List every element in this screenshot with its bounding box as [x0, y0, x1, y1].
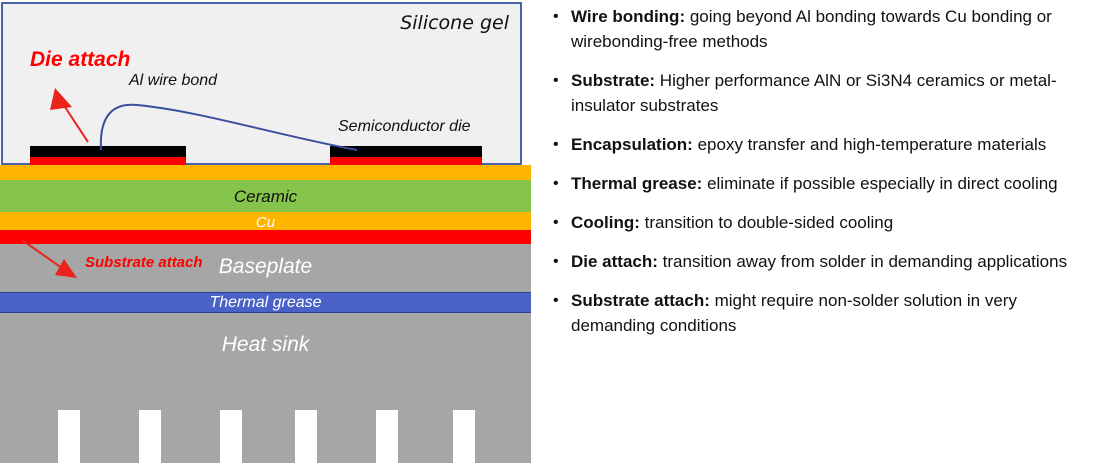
list-item: • Die attach: transition away from solde… [549, 249, 1094, 274]
die-attach-annotation: Die attach [30, 47, 140, 72]
list-item-text: Die attach: transition away from solder … [571, 249, 1094, 274]
bullet-marker-icon: • [549, 68, 571, 118]
bullet-list: • Wire bonding: going beyond Al bonding … [549, 4, 1094, 459]
thermal-grease-label: Thermal grease [0, 294, 531, 312]
list-item: • Cooling: transition to double-sided co… [549, 210, 1094, 235]
die-attach-solder [330, 157, 482, 165]
list-item-body: transition away from solder in demanding… [658, 252, 1067, 271]
heat-sink-fin-slot [376, 410, 398, 463]
die-body [330, 146, 482, 157]
die-body [30, 146, 186, 157]
copper-layer-label: Cu [0, 214, 531, 231]
heat-sink-label: Heat sink [0, 333, 531, 357]
list-item: • Thermal grease: eliminate if possible … [549, 171, 1094, 196]
semiconductor-die-label: Semiconductor die [338, 118, 471, 136]
al-wire-bond-label: Al wire bond [129, 72, 217, 90]
list-item-body: transition to double-sided cooling [640, 213, 893, 232]
silicone-gel-label: Silicone gel [400, 12, 509, 34]
list-item-term: Substrate: [571, 71, 655, 90]
baseplate-layer-label: Baseplate [0, 255, 531, 279]
list-item-body: epoxy transfer and high-temperature mate… [693, 135, 1046, 154]
list-item-term: Substrate attach: [571, 291, 710, 310]
bullet-marker-icon: • [549, 171, 571, 196]
list-item-term: Encapsulation: [571, 135, 693, 154]
slide-root: Ceramic Cu Baseplate Thermal grease Heat… [0, 0, 1099, 463]
bullet-marker-icon: • [549, 132, 571, 157]
list-item-term: Cooling: [571, 213, 640, 232]
list-item-text: Substrate: Higher performance AlN or Si3… [571, 68, 1094, 118]
heat-sink-fin-slot [295, 410, 317, 463]
copper-layer-top [0, 165, 531, 180]
power-module-cross-section-diagram: Ceramic Cu Baseplate Thermal grease Heat… [0, 0, 531, 463]
bullet-marker-icon: • [549, 249, 571, 274]
list-item-text: Wire bonding: going beyond Al bonding to… [571, 4, 1094, 54]
list-item: • Substrate: Higher performance AlN or S… [549, 68, 1094, 118]
ceramic-layer-label: Ceramic [0, 187, 531, 207]
list-item-text: Substrate attach: might require non-sold… [571, 288, 1094, 338]
list-item: • Substrate attach: might require non-so… [549, 288, 1094, 338]
semiconductor-die-left [30, 146, 186, 165]
list-item: • Wire bonding: going beyond Al bonding … [549, 4, 1094, 54]
heat-sink-fin-slot [139, 410, 161, 463]
list-item-text: Encapsulation: epoxy transfer and high-t… [571, 132, 1094, 157]
substrate-attach-annotation: Substrate attach [85, 253, 205, 272]
list-item-term: Wire bonding [571, 7, 679, 26]
semiconductor-die-right [330, 146, 482, 165]
die-attach-solder [30, 157, 186, 165]
list-item-term: Die attach: [571, 252, 658, 271]
heat-sink-fin-slot [453, 410, 475, 463]
heat-sink-fin-slot [58, 410, 80, 463]
list-item-text: Cooling: transition to double-sided cool… [571, 210, 1094, 235]
bullet-marker-icon: • [549, 210, 571, 235]
heat-sink-fin-slot [220, 410, 242, 463]
list-item-term: Thermal grease: [571, 174, 702, 193]
list-item: • Encapsulation: epoxy transfer and high… [549, 132, 1094, 157]
bullet-marker-icon: • [549, 4, 571, 54]
bullet-marker-icon: • [549, 288, 571, 338]
substrate-attach-solder-layer [0, 230, 531, 244]
list-item-text: Thermal grease: eliminate if possible es… [571, 171, 1094, 196]
list-item-body: eliminate if possible especially in dire… [702, 174, 1057, 193]
